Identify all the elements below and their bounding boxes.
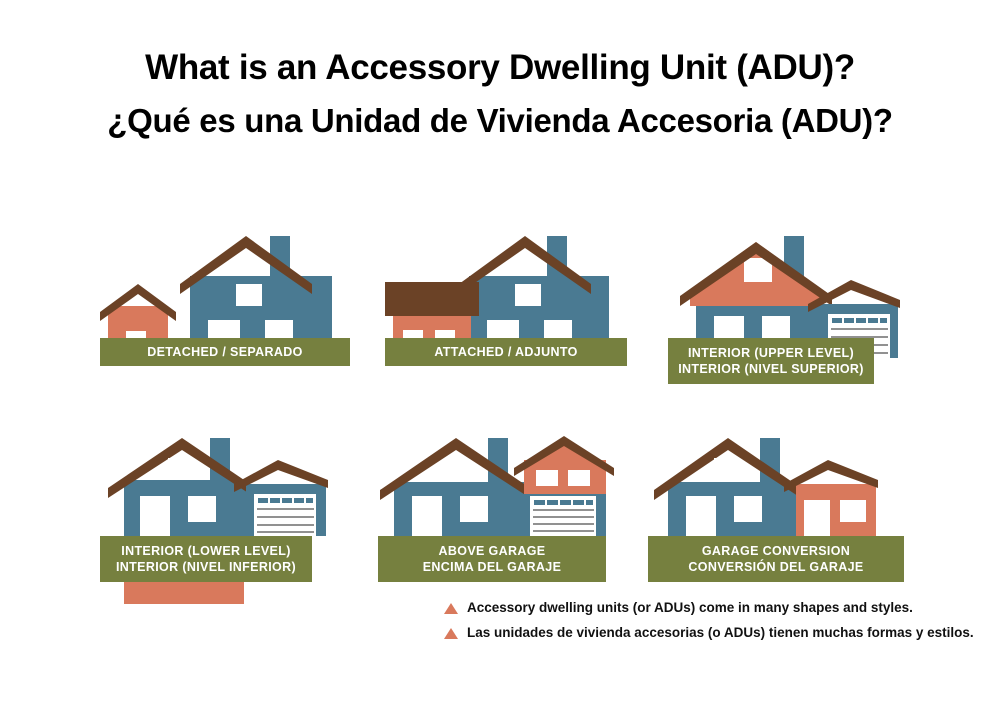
adu-converted-door	[804, 500, 830, 536]
footnote-list: Accessory dwelling units (or ADUs) come …	[444, 600, 984, 650]
footnote-text-spanish: Las unidades de vivienda accesorias (o A…	[467, 625, 974, 641]
main-house-door	[140, 496, 170, 536]
main-house-door	[686, 496, 716, 536]
panel-above-garage: ABOVE GARAGE ENCIMA DEL GARAJE	[378, 432, 628, 592]
footnote-text-english: Accessory dwelling units (or ADUs) come …	[467, 600, 913, 616]
panel-garage-conversion: GARAGE CONVERSION CONVERSIÓN DEL GARAJE	[648, 432, 904, 592]
label-band-interior-lower: INTERIOR (LOWER LEVEL) INTERIOR (NIVEL I…	[100, 536, 312, 582]
label-detached-en: DETACHED / SEPARADO	[147, 344, 303, 361]
panel-attached: ATTACHED / ADJUNTO	[385, 228, 627, 373]
label-garage-conversion-es: CONVERSIÓN DEL GARAJE	[688, 559, 863, 576]
label-band-above-garage: ABOVE GARAGE ENCIMA DEL GARAJE	[378, 536, 606, 582]
main-house-upper-window	[236, 284, 262, 306]
label-band-attached: ATTACHED / ADJUNTO	[385, 338, 627, 366]
label-above-garage-es: ENCIMA DEL GARAJE	[423, 559, 562, 576]
adu-window-left	[536, 470, 558, 486]
triangle-bullet-icon	[444, 603, 458, 614]
label-interior-upper-es: INTERIOR (NIVEL SUPERIOR)	[678, 361, 864, 378]
panel-interior-upper: INTERIOR (UPPER LEVEL) INTERIOR (NIVEL S…	[668, 228, 924, 383]
main-house-window	[460, 496, 488, 522]
main-house-upper-window	[168, 458, 194, 480]
footnote-item: Accessory dwelling units (or ADUs) come …	[444, 600, 984, 616]
label-above-garage-en: ABOVE GARAGE	[439, 543, 546, 560]
label-band-garage-conversion: GARAGE CONVERSION CONVERSIÓN DEL GARAJE	[648, 536, 904, 582]
page-title: What is an Accessory Dwelling Unit (ADU)…	[0, 48, 1000, 140]
main-house-upper-window	[714, 458, 740, 480]
panel-interior-lower: INTERIOR (LOWER LEVEL) INTERIOR (NIVEL I…	[100, 432, 350, 607]
footnote-item: Las unidades de vivienda accesorias (o A…	[444, 625, 984, 641]
main-house-upper-window	[515, 284, 541, 306]
label-interior-lower-es: INTERIOR (NIVEL INFERIOR)	[116, 559, 296, 576]
title-english: What is an Accessory Dwelling Unit (ADU)…	[0, 48, 1000, 87]
main-house-door	[412, 496, 442, 536]
panel-detached: DETACHED / SEPARADO	[100, 228, 350, 373]
title-spanish: ¿Qué es una Unidad de Vivienda Accesoria…	[0, 103, 1000, 140]
main-house-window	[734, 496, 762, 522]
triangle-bullet-icon	[444, 628, 458, 639]
label-interior-lower-en: INTERIOR (LOWER LEVEL)	[121, 543, 291, 560]
label-garage-conversion-en: GARAGE CONVERSION	[702, 543, 850, 560]
label-band-interior-upper: INTERIOR (UPPER LEVEL) INTERIOR (NIVEL S…	[668, 338, 874, 384]
label-interior-upper-en: INTERIOR (UPPER LEVEL)	[688, 345, 854, 362]
label-band-detached: DETACHED / SEPARADO	[100, 338, 350, 366]
adu-flat-roof	[385, 282, 479, 316]
adu-converted-window	[840, 500, 866, 522]
main-house-window	[188, 496, 216, 522]
label-attached-en: ATTACHED / ADJUNTO	[434, 344, 577, 361]
adu-window-right	[568, 470, 590, 486]
